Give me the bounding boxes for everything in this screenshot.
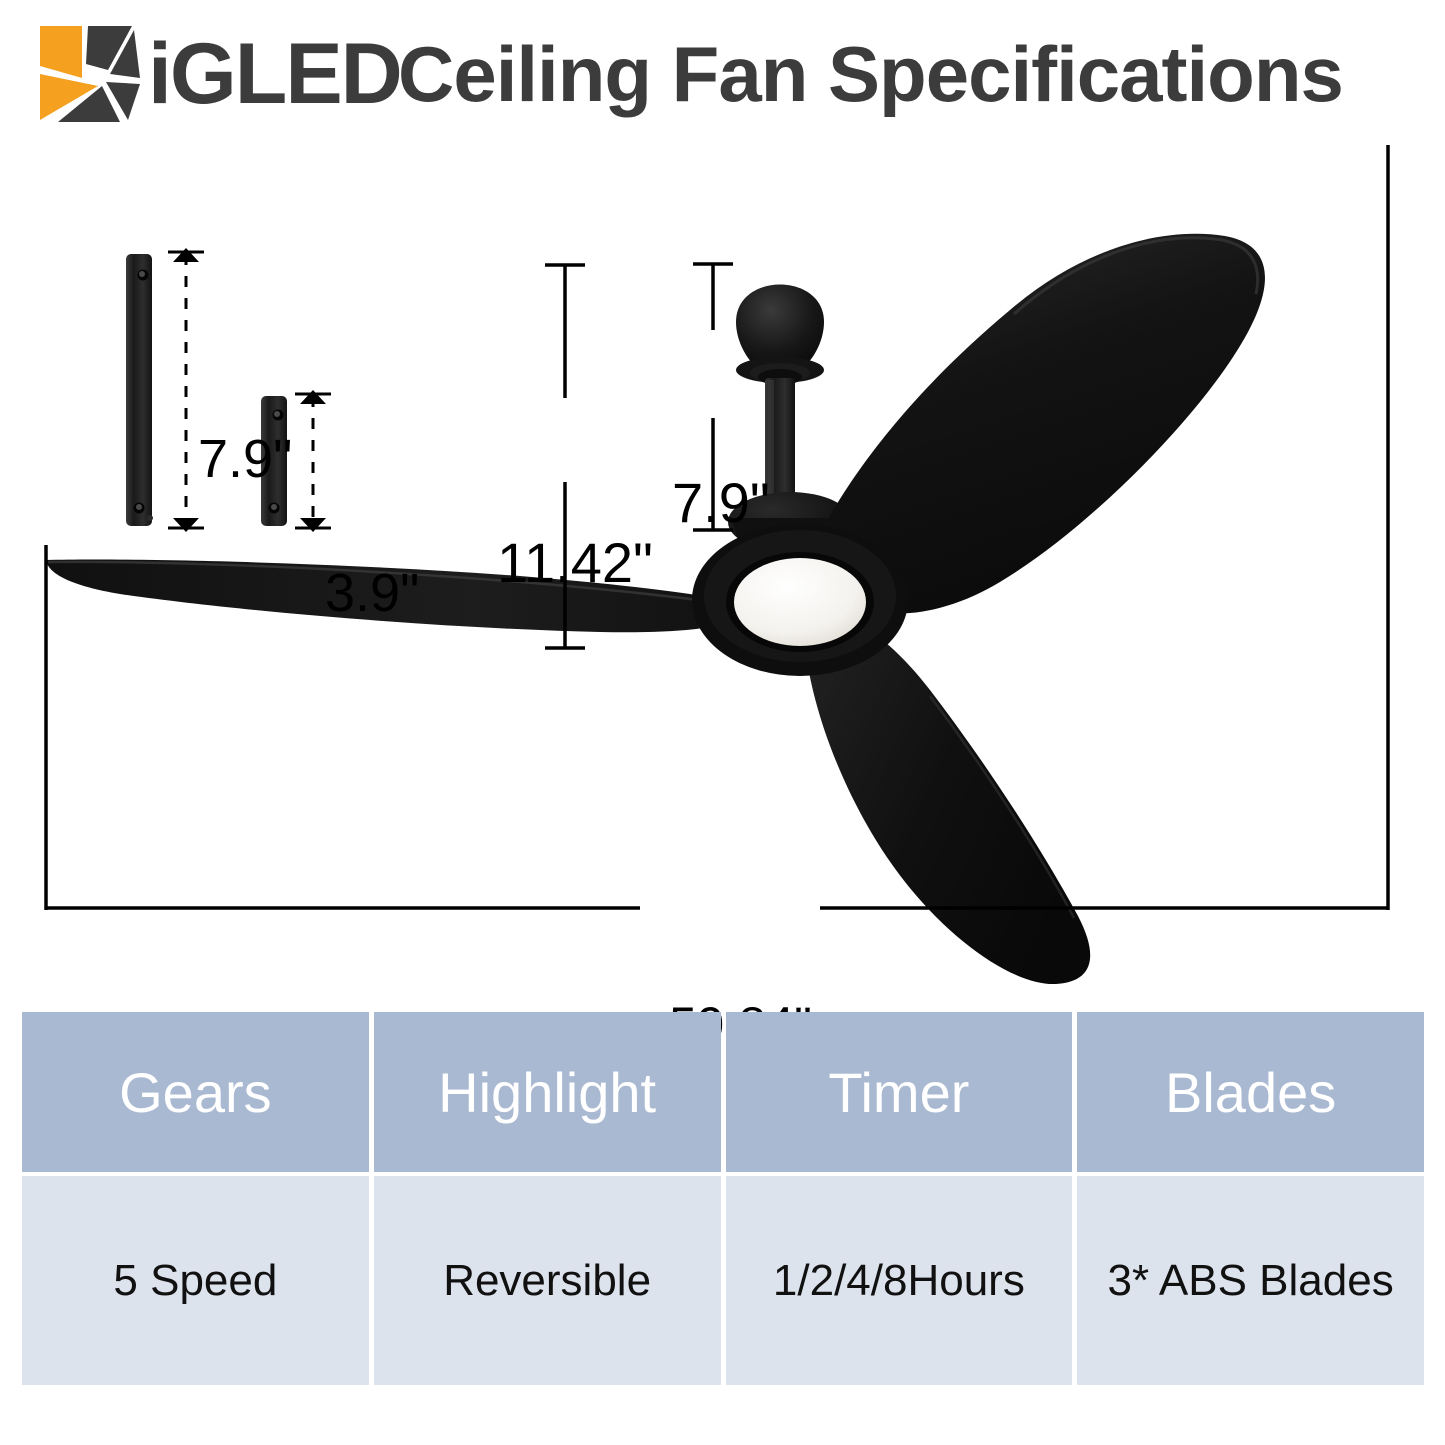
spec-table-value-row: 5 Speed Reversible 1/2/4/8Hours 3* ABS B… bbox=[22, 1176, 1424, 1385]
logo-wordmark: iGLED bbox=[148, 26, 401, 122]
spec-table-header-row: Gears Highlight Timer Blades bbox=[22, 1012, 1424, 1172]
spec-value-gears: 5 Speed bbox=[22, 1176, 369, 1385]
spec-header-gears: Gears bbox=[22, 1012, 369, 1172]
dim-label-downrod-long: 7.9" bbox=[198, 428, 292, 490]
spec-table: Gears Highlight Timer Blades 5 Speed Rev… bbox=[22, 1012, 1424, 1385]
dim-label-downrod-short: 3.9" bbox=[325, 562, 419, 624]
spec-value-highlight: Reversible bbox=[374, 1176, 721, 1385]
spec-header-blades: Blades bbox=[1077, 1012, 1424, 1172]
canopy bbox=[736, 285, 824, 386]
product-spec-page: iGLED Ceiling Fan Specifications bbox=[0, 0, 1445, 1445]
downrod-long bbox=[126, 254, 153, 526]
led-light-disc bbox=[726, 552, 874, 652]
spec-header-highlight: Highlight bbox=[374, 1012, 721, 1172]
aperture-logo-icon bbox=[36, 24, 148, 124]
dim-label-overall-height: 11.42" bbox=[497, 530, 653, 595]
spec-value-timer: 1/2/4/8Hours bbox=[726, 1176, 1073, 1385]
spec-value-blades: 3* ABS Blades bbox=[1077, 1176, 1424, 1385]
ceiling-fan-dimension-diagram: 7.9" 3.9" 11.42" 7.9" 59.84" bbox=[0, 130, 1445, 990]
dimline-downrod-short bbox=[295, 390, 331, 532]
page-header: iGLED Ceiling Fan Specifications bbox=[0, 0, 1445, 130]
spec-header-timer: Timer bbox=[726, 1012, 1073, 1172]
dim-label-canopy-height: 7.9" bbox=[672, 470, 770, 535]
page-title: Ceiling Fan Specifications bbox=[398, 26, 1343, 122]
